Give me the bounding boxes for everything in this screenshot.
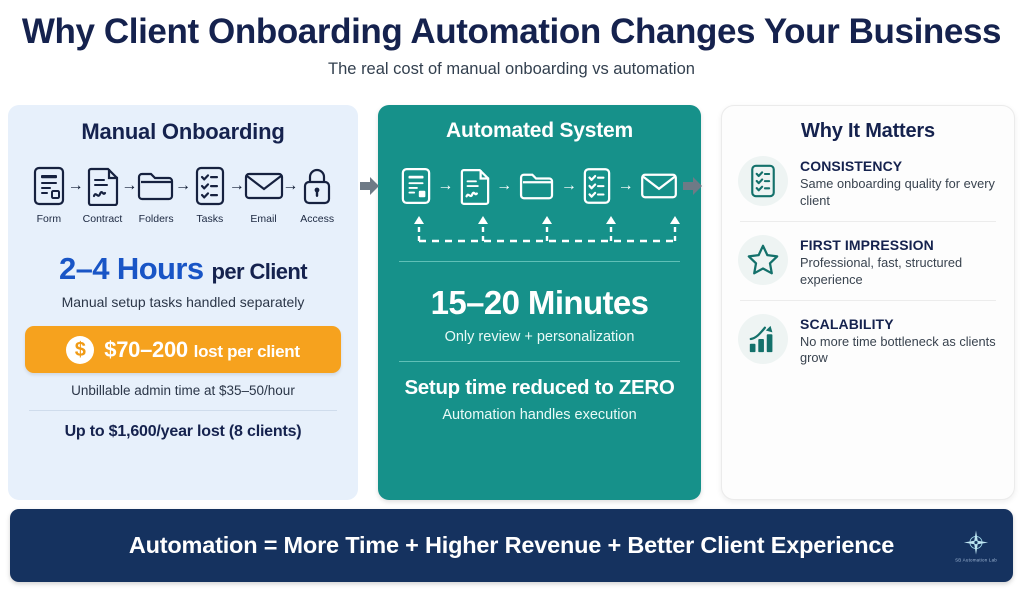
page-subtitle: The real cost of manual onboarding vs au… bbox=[0, 60, 1023, 79]
manual-step-form: Form bbox=[27, 163, 71, 225]
manual-step-label: Folders bbox=[139, 213, 174, 225]
lock-icon bbox=[301, 163, 333, 209]
manual-stat-value: 2–4 Hours bbox=[59, 251, 204, 286]
benefit-consistency: CONSISTENCY Same onboarding quality for … bbox=[738, 156, 998, 210]
flow-arrow-icon: → bbox=[437, 163, 453, 209]
page-title: Why Client Onboarding Automation Changes… bbox=[0, 14, 1023, 51]
checklist-icon bbox=[738, 156, 788, 206]
compass-star-logo-icon bbox=[963, 529, 989, 555]
folder-icon bbox=[137, 163, 175, 209]
automated-step-flow: → → → → bbox=[395, 163, 684, 209]
automated-divider-bottom bbox=[399, 361, 680, 362]
manual-step-tasks: Tasks bbox=[188, 163, 232, 225]
benefit-desc: No more time bottleneck as clients grow bbox=[800, 334, 998, 368]
tasks-icon bbox=[195, 163, 225, 209]
why-heading: Why It Matters bbox=[738, 120, 998, 143]
why-divider-2 bbox=[740, 300, 996, 301]
manual-step-access: Access bbox=[295, 163, 339, 225]
manual-step-label: Tasks bbox=[196, 213, 223, 225]
flow-arrow-icon: → bbox=[561, 163, 577, 209]
dollar-coin-icon: $ bbox=[66, 336, 94, 364]
panel-manual-onboarding: Manual Onboarding Form → Contract → bbox=[8, 105, 358, 500]
manual-step-label: Form bbox=[37, 213, 62, 225]
columns-container: Manual Onboarding Form → Contract → bbox=[8, 105, 1015, 500]
manual-step-label: Access bbox=[300, 213, 334, 225]
cost-badge-text: $70–200 lost per client bbox=[104, 337, 299, 363]
manual-divider bbox=[29, 410, 337, 411]
manual-step-folders: Folders bbox=[134, 163, 178, 225]
infographic-page: Why Client Onboarding Automation Changes… bbox=[0, 0, 1023, 597]
tasks-icon bbox=[583, 163, 611, 209]
benefit-desc: Professional, fast, structured experienc… bbox=[800, 255, 998, 289]
benefit-title: FIRST IMPRESSION bbox=[800, 237, 998, 253]
header: Why Client Onboarding Automation Changes… bbox=[0, 0, 1023, 79]
manual-step-flow: Form → Contract → Folders → bbox=[25, 163, 341, 225]
manual-stat-note: Manual setup tasks handled separately bbox=[25, 294, 341, 310]
benefit-scalability: SCALABILITY No more time bottleneck as c… bbox=[738, 314, 998, 368]
benefit-desc: Same onboarding quality for every client bbox=[800, 176, 998, 210]
summary-banner: Automation = More Time + Higher Revenue … bbox=[10, 509, 1013, 582]
manual-footer: Up to $1,600/year lost (8 clients) bbox=[25, 423, 341, 441]
growth-chart-icon bbox=[738, 314, 788, 364]
manual-step-contract: Contract bbox=[81, 163, 125, 225]
contract-icon bbox=[87, 163, 119, 209]
benefit-title: CONSISTENCY bbox=[800, 158, 998, 174]
flow-arrow-icon: → bbox=[618, 163, 634, 209]
star-icon bbox=[738, 235, 788, 285]
manual-badge-note: Unbillable admin time at $35–50/hour bbox=[25, 383, 341, 398]
why-divider-1 bbox=[740, 221, 996, 222]
benefit-first-impression: FIRST IMPRESSION Professional, fast, str… bbox=[738, 235, 998, 289]
manual-stat-unit: per Client bbox=[212, 259, 307, 284]
form-icon bbox=[401, 163, 431, 209]
cost-badge: $ $70–200 lost per client bbox=[25, 326, 341, 373]
contract-icon bbox=[460, 163, 490, 209]
brand-logo: SB Automation Lab bbox=[955, 529, 997, 562]
connector-arrow-manual-to-automated-icon bbox=[359, 175, 381, 197]
connector-arrow-automated-to-why-icon bbox=[682, 175, 704, 197]
benefit-text: FIRST IMPRESSION Professional, fast, str… bbox=[800, 235, 998, 289]
panel-automated-system: Automated System → → → → bbox=[378, 105, 701, 500]
banner-text: Automation = More Time + Higher Revenue … bbox=[129, 532, 894, 559]
manual-primary-stat: 2–4 Hours per Client bbox=[25, 251, 341, 287]
automation-loop-connector bbox=[411, 211, 674, 245]
automated-heading: Automated System bbox=[395, 119, 684, 143]
manual-step-email: Email bbox=[242, 163, 286, 225]
manual-step-label: Contract bbox=[83, 213, 123, 225]
automated-primary-stat: 15–20 Minutes bbox=[395, 284, 684, 322]
flow-arrow-icon: → bbox=[496, 163, 512, 209]
form-icon bbox=[33, 163, 65, 209]
folder-icon bbox=[519, 163, 555, 209]
email-icon bbox=[640, 163, 678, 209]
cost-amount: $70–200 bbox=[104, 337, 188, 362]
benefit-title: SCALABILITY bbox=[800, 316, 998, 332]
benefit-text: CONSISTENCY Same onboarding quality for … bbox=[800, 156, 998, 210]
automated-stat-note: Only review + personalization bbox=[395, 329, 684, 345]
brand-name: SB Automation Lab bbox=[955, 557, 997, 562]
automated-footer-note: Automation handles execution bbox=[395, 407, 684, 423]
manual-heading: Manual Onboarding bbox=[25, 119, 341, 145]
automated-footer-title: Setup time reduced to ZERO bbox=[395, 376, 684, 400]
cost-suffix: lost per client bbox=[194, 342, 300, 361]
benefit-text: SCALABILITY No more time bottleneck as c… bbox=[800, 314, 998, 368]
panel-why-it-matters: Why It Matters CONSISTENCY Same onboardi… bbox=[721, 105, 1015, 500]
manual-step-label: Email bbox=[250, 213, 276, 225]
email-icon bbox=[244, 163, 284, 209]
automated-divider-top bbox=[399, 261, 680, 262]
